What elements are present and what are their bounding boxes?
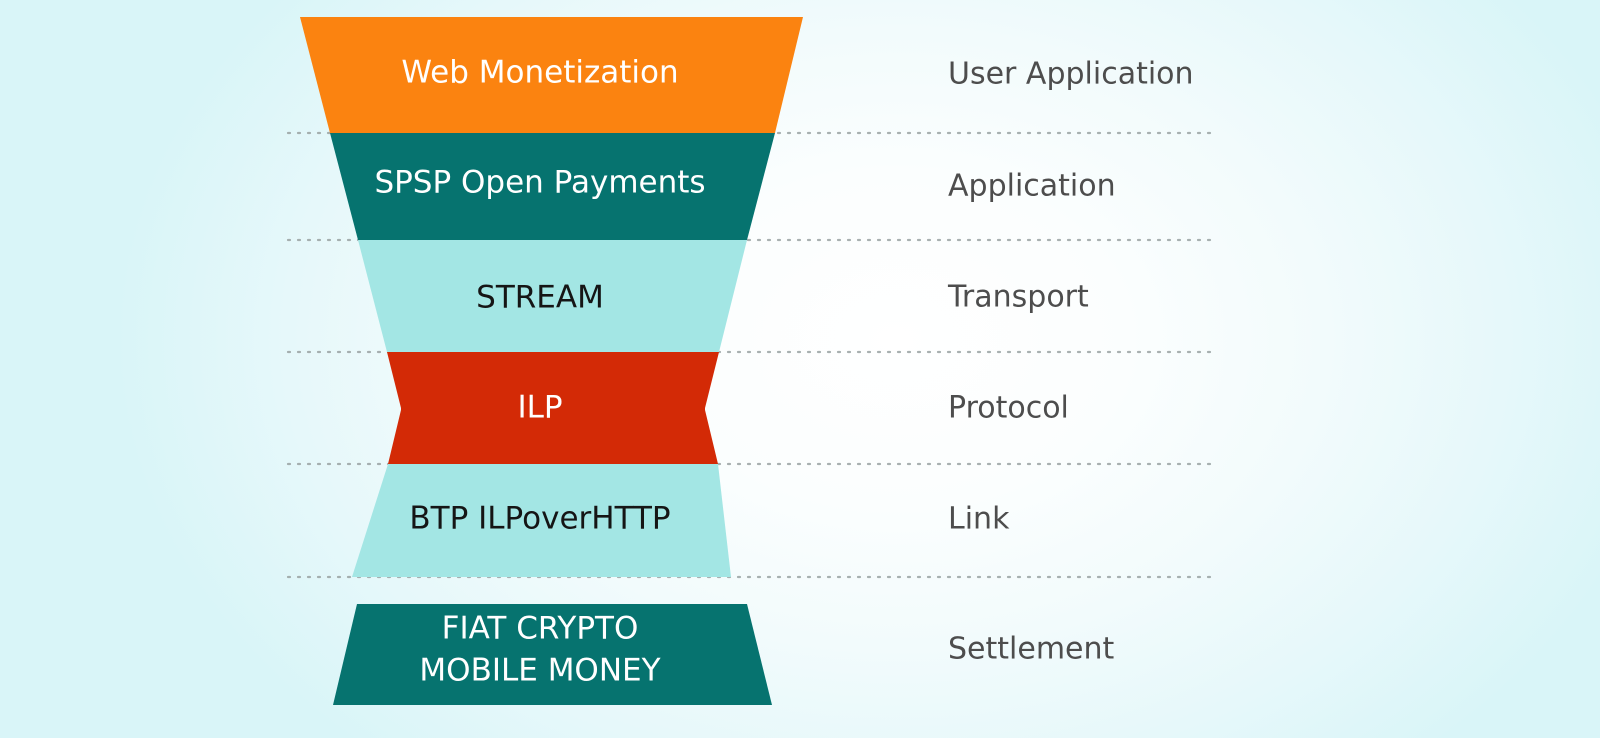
layer-web-monetization[interactable]: Web Monetization — [300, 17, 803, 133]
side-label-link: Link — [948, 502, 1010, 537]
layer-label-application: SPSP Open Payments — [374, 165, 705, 201]
layer-label-link: BTP ILPoverHTTP — [409, 501, 670, 537]
side-label-application: Application — [948, 169, 1116, 204]
side-label-transport: Transport — [947, 280, 1089, 315]
layer-transport[interactable]: STREAM — [358, 240, 747, 352]
layer-settlement[interactable]: FIAT CRYPTO MOBILE MONEY — [333, 604, 772, 705]
layer-label-settlement-line2: MOBILE MONEY — [419, 653, 660, 689]
layer-link[interactable]: BTP ILPoverHTTP — [352, 464, 731, 577]
layer-label-settlement-line1: FIAT CRYPTO — [442, 611, 639, 647]
protocol-stack-diagram: Web Monetization SPSP Open Payments STRE… — [0, 0, 1600, 738]
layer-label-transport: STREAM — [476, 280, 604, 316]
layer-protocol[interactable]: ILP — [387, 352, 719, 464]
layer-application[interactable]: SPSP Open Payments — [330, 133, 775, 240]
layer-label-protocol: ILP — [517, 390, 562, 426]
layer-label-web-monetization: Web Monetization — [401, 55, 678, 91]
side-label-user-application: User Application — [948, 57, 1194, 92]
side-label-protocol: Protocol — [948, 391, 1069, 426]
side-label-settlement: Settlement — [948, 632, 1115, 667]
diagram-canvas: Web Monetization SPSP Open Payments STRE… — [0, 0, 1600, 738]
side-labels: User Application Application Transport P… — [947, 57, 1194, 667]
